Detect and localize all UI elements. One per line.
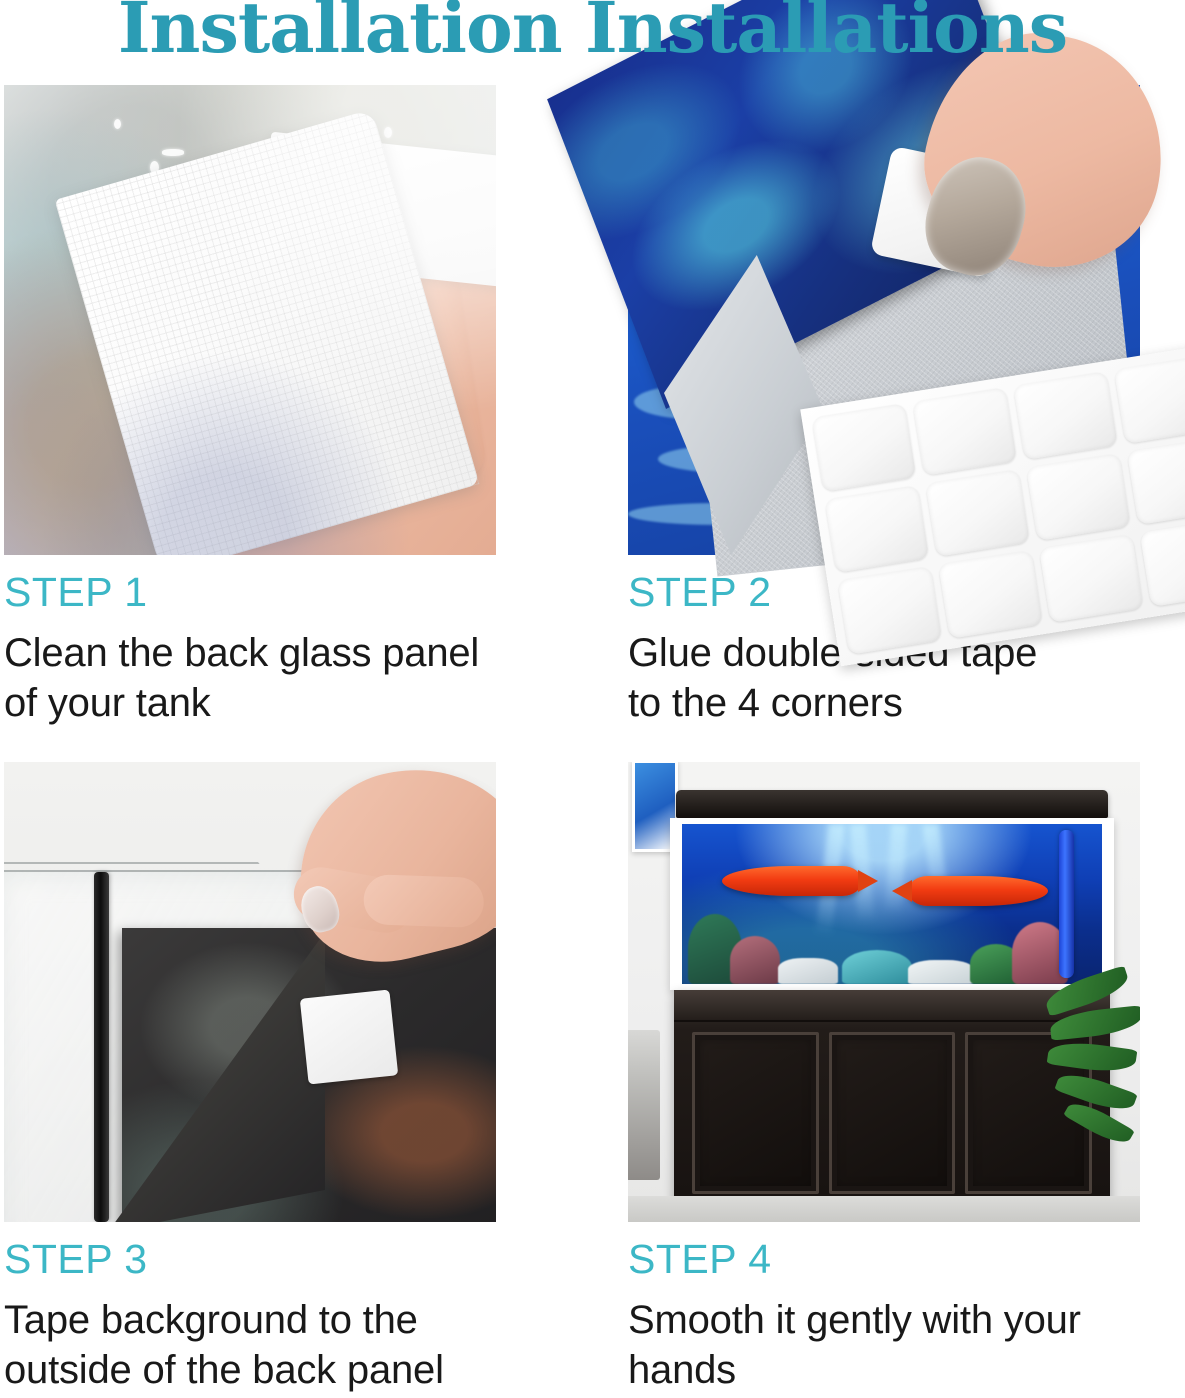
step-4-label: STEP 4: [628, 1238, 1140, 1281]
step-1-label: STEP 1: [4, 571, 496, 614]
white-rock: [778, 958, 838, 984]
water-droplet: [162, 149, 184, 156]
finger: [363, 874, 485, 928]
water-droplet: [114, 119, 121, 129]
plant-leaf: [1047, 1038, 1138, 1076]
tape-square: [1013, 371, 1118, 459]
step-2-photo: [628, 85, 1140, 555]
adhesive-pad: [300, 990, 398, 1085]
cabinet-door: [692, 1032, 819, 1194]
step-4-description: Smooth it gently with your hands: [628, 1295, 1140, 1395]
aquarium-water-background: [682, 824, 1102, 984]
step-1-photo: [4, 85, 496, 555]
tape-square: [1140, 518, 1185, 606]
step-3-photo: [4, 762, 496, 1222]
orange-arowana-fish: [722, 866, 862, 896]
step-3-label: STEP 3: [4, 1238, 496, 1281]
bubble-wand-tube: [1059, 830, 1074, 978]
tape-square: [838, 566, 943, 654]
step-3-desc-line-2: outside of the back panel: [4, 1345, 496, 1395]
step-1-description: Clean the back glass panel of your tank: [4, 628, 496, 728]
tape-square: [812, 403, 917, 491]
house-plant: [1034, 976, 1140, 1151]
floor: [628, 1196, 1140, 1222]
tape-square: [938, 550, 1043, 638]
tape-square: [825, 485, 930, 573]
page-title: Installation Installations: [0, 0, 1185, 69]
fish-tail: [892, 880, 912, 902]
tape-square: [1026, 453, 1131, 541]
step-card-2: STEP 2 Glue double-sided tape to the 4 c…: [628, 85, 1140, 728]
step-4-desc-line-2: hands: [628, 1345, 1140, 1395]
tape-square: [1039, 534, 1144, 622]
step-card-3: STEP 3 Tape background to the outside of…: [4, 762, 496, 1395]
step-card-4: STEP 4 Smooth it gently with your hands: [628, 762, 1140, 1395]
step-4-photo: [628, 762, 1140, 1222]
tape-square: [1114, 355, 1185, 443]
fish-tail: [858, 870, 878, 892]
step-4-desc-line-1: Smooth it gently with your: [628, 1298, 1081, 1342]
aquarium-tank: [670, 818, 1114, 990]
step-3-desc-line-1: Tape background to the: [4, 1298, 418, 1342]
tape-square: [1127, 437, 1185, 525]
tape-square: [925, 469, 1030, 557]
coral: [842, 950, 912, 984]
orange-arowana-fish: [908, 876, 1048, 906]
coral: [730, 936, 780, 984]
step-1-desc-line-1: Clean the back glass panel: [4, 631, 479, 675]
side-table: [628, 1030, 660, 1180]
step-3-description: Tape background to the outside of the ba…: [4, 1295, 496, 1395]
aquarium-hood: [676, 790, 1108, 818]
tank-top-edge: [4, 862, 303, 920]
step-1-desc-line-2: of your tank: [4, 678, 496, 728]
stand-cabinet-doors: [692, 1032, 1092, 1194]
tape-square: [912, 387, 1017, 475]
water-droplet: [384, 127, 392, 138]
cabinet-door: [829, 1032, 956, 1194]
step-2-desc-line-2: to the 4 corners: [628, 678, 1140, 728]
tank-corner-trim: [94, 872, 109, 1222]
white-rock: [908, 960, 974, 984]
step-card-1: STEP 1 Clean the back glass panel of you…: [4, 85, 496, 728]
